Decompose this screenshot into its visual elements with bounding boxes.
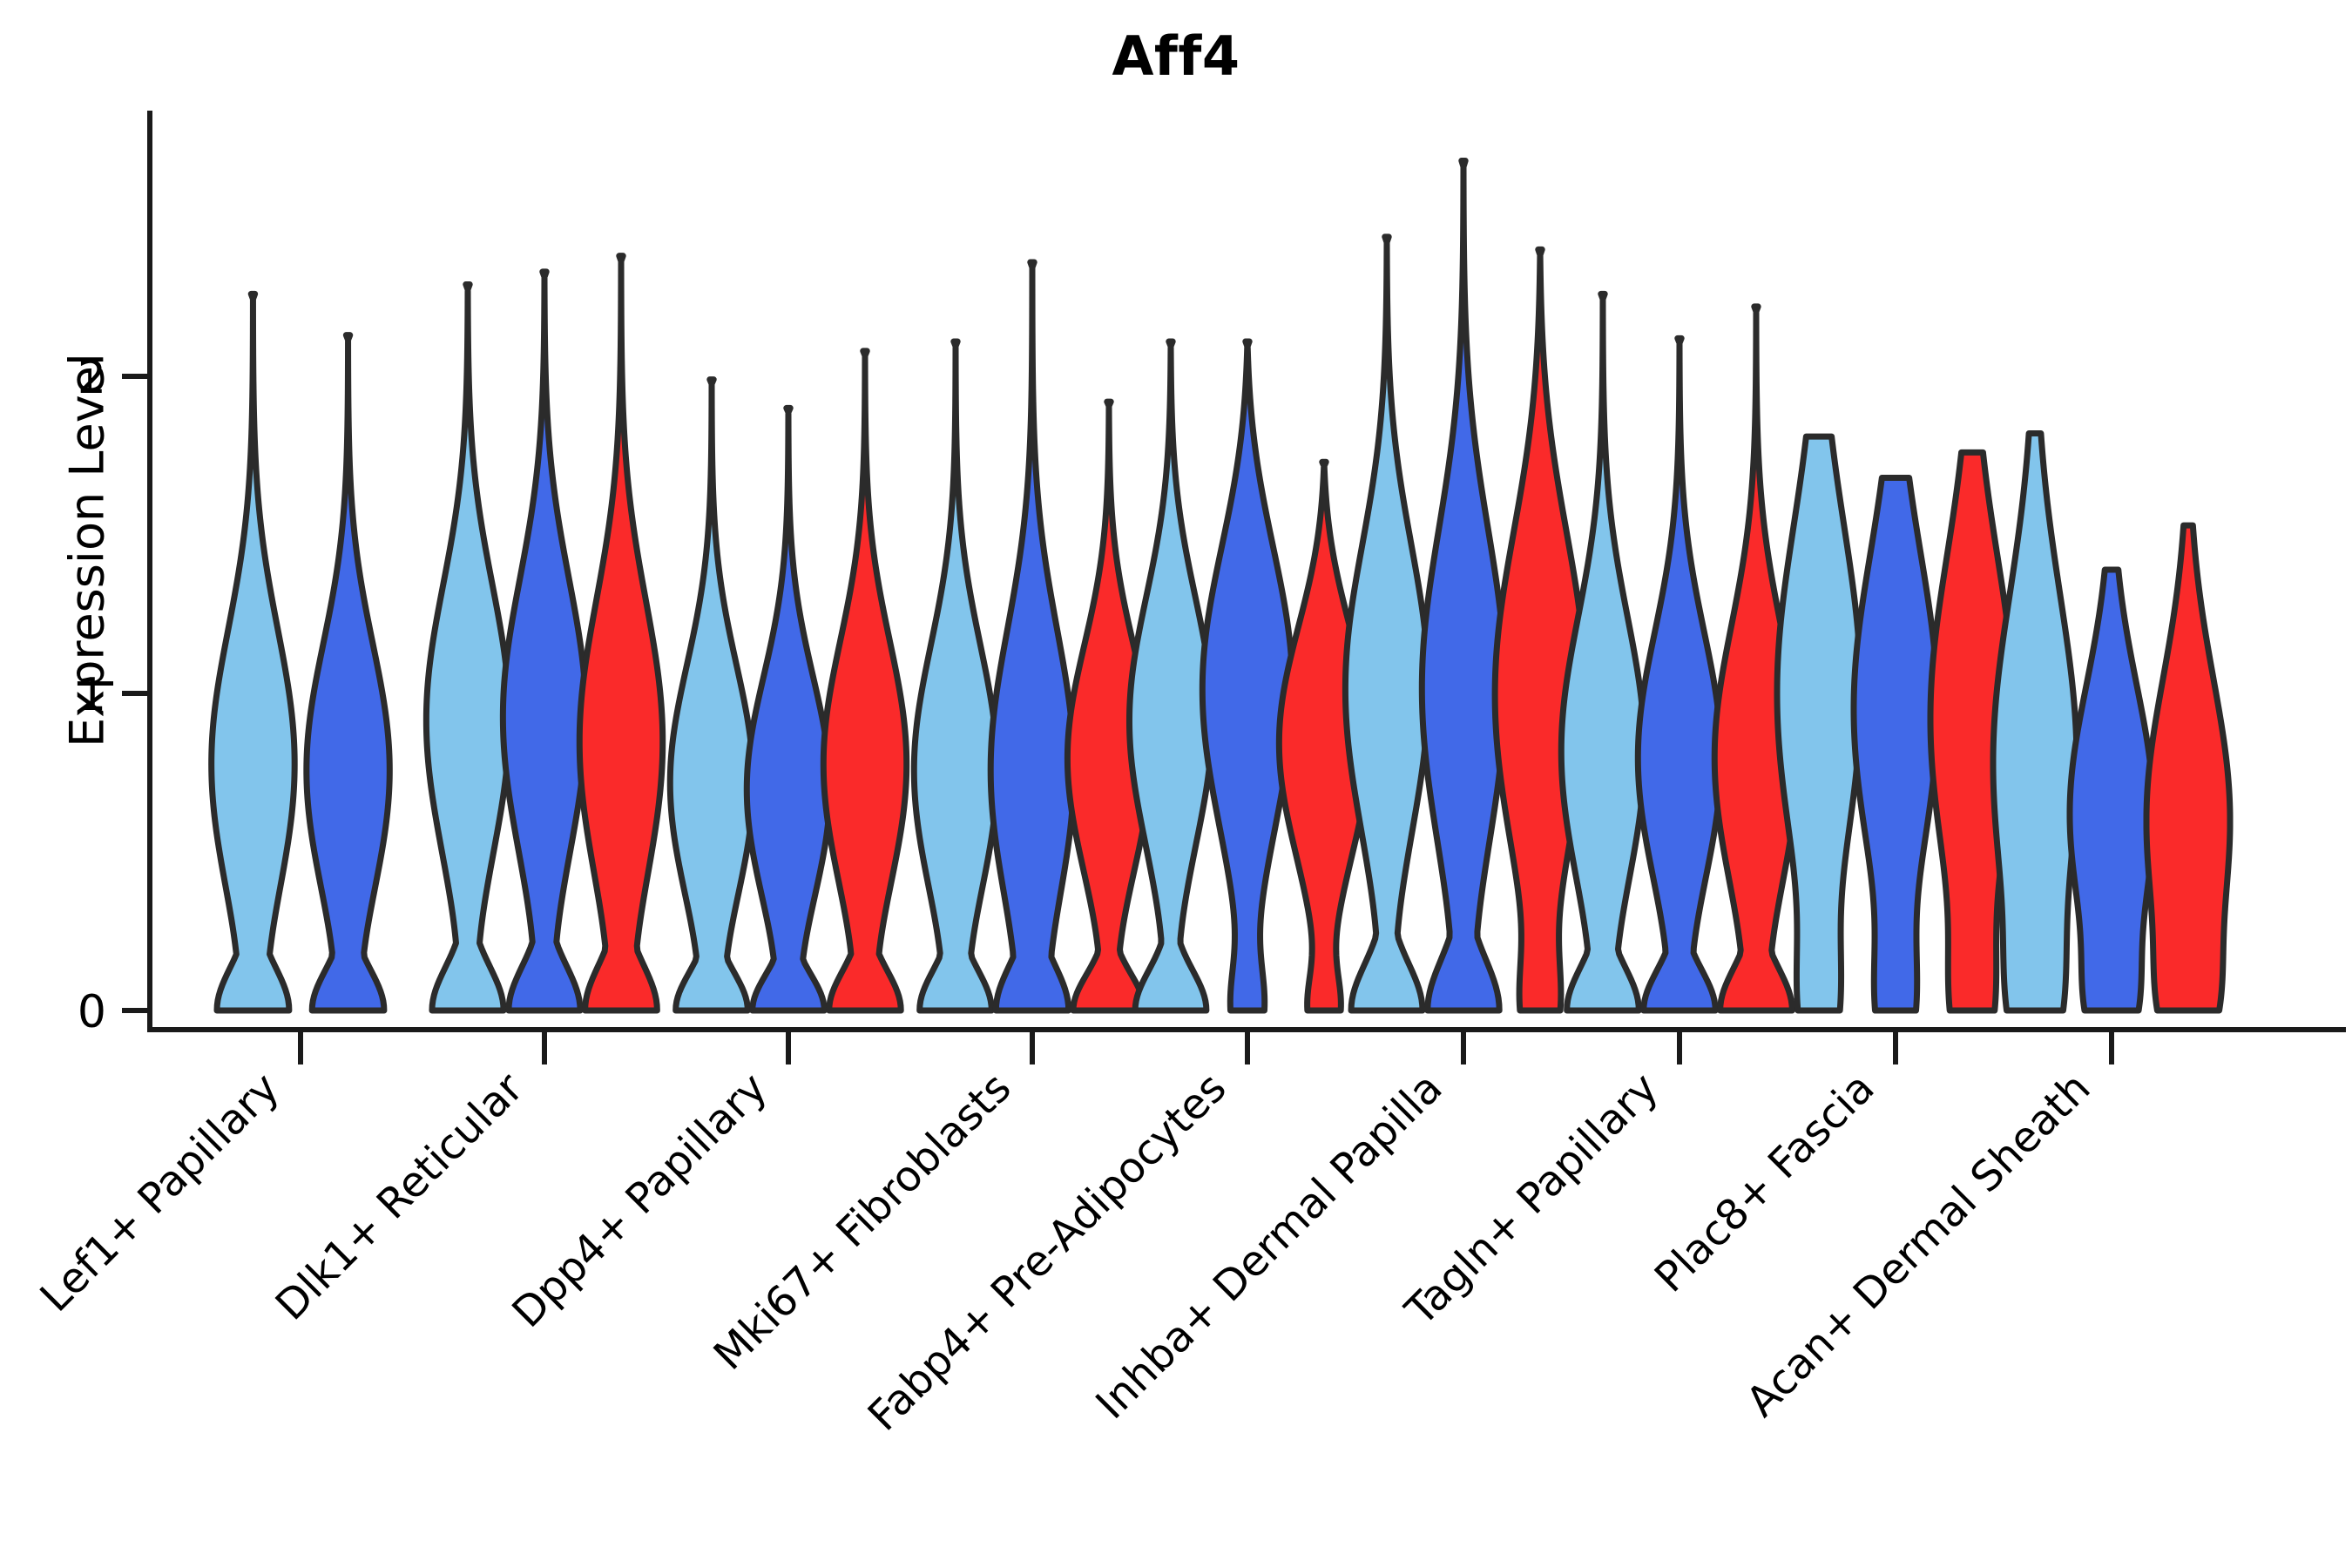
x-tick-label-5: Fabp4+ Pre-Adipocytes — [859, 1064, 1236, 1441]
violin-3-3[interactable] — [823, 351, 906, 1010]
violin-2-2[interactable] — [503, 272, 585, 1010]
violin-9-3[interactable] — [2146, 525, 2230, 1010]
violin-6-3[interactable] — [1495, 249, 1585, 1010]
violin-1-2[interactable] — [307, 335, 389, 1010]
violins-layer — [212, 160, 2230, 1010]
x-tick-label-1: Lef1+ Papillary — [31, 1064, 289, 1321]
violin-4-2[interactable] — [990, 262, 1074, 1010]
x-tick-labels-layer: Lef1+ PapillaryDlk1+ ReticularDpp4+ Papi… — [31, 1030, 2112, 1441]
x-tick-label-3: Dpp4+ Papillary — [503, 1064, 776, 1337]
violin-plot-figure: Aff4 Expression Level 012 Lef1+ Papillar… — [0, 0, 2352, 1568]
violin-1-1[interactable] — [212, 294, 295, 1010]
violin-7-2[interactable] — [1638, 338, 1720, 1010]
violin-3-1[interactable] — [670, 380, 753, 1010]
violin-7-1[interactable] — [1561, 294, 1644, 1010]
violin-8-1[interactable] — [1777, 436, 1861, 1010]
violin-9-2[interactable] — [2070, 570, 2153, 1010]
violin-3-2[interactable] — [747, 408, 829, 1010]
y-tick-label-0: 0 — [78, 986, 106, 1038]
violin-5-2[interactable] — [1202, 341, 1292, 1010]
y-tick-label-1: 1 — [78, 669, 106, 721]
x-tick-label-8: Plac8+ Fascia — [1646, 1064, 1884, 1302]
y-tick-label-2: 2 — [78, 352, 106, 404]
violin-9-1[interactable] — [1993, 434, 2077, 1010]
violin-2-3[interactable] — [579, 256, 662, 1010]
ticks-layer: 012 — [78, 352, 150, 1038]
x-tick-label-9: Acan+ Dermal Sheath — [1737, 1064, 2099, 1426]
violin-8-2[interactable] — [1854, 477, 1937, 1010]
violin-6-1[interactable] — [1345, 237, 1428, 1010]
violin-2-1[interactable] — [426, 284, 509, 1010]
chart-canvas: 012 Lef1+ PapillaryDlk1+ ReticularDpp4+ … — [0, 0, 2352, 1568]
violin-4-1[interactable] — [914, 341, 997, 1010]
x-tick-label-2: Dlk1+ Reticular — [267, 1064, 533, 1330]
x-tick-label-6: Inhba+ Dermal Papilla — [1086, 1064, 1451, 1429]
violin-6-2[interactable] — [1422, 160, 1504, 1010]
